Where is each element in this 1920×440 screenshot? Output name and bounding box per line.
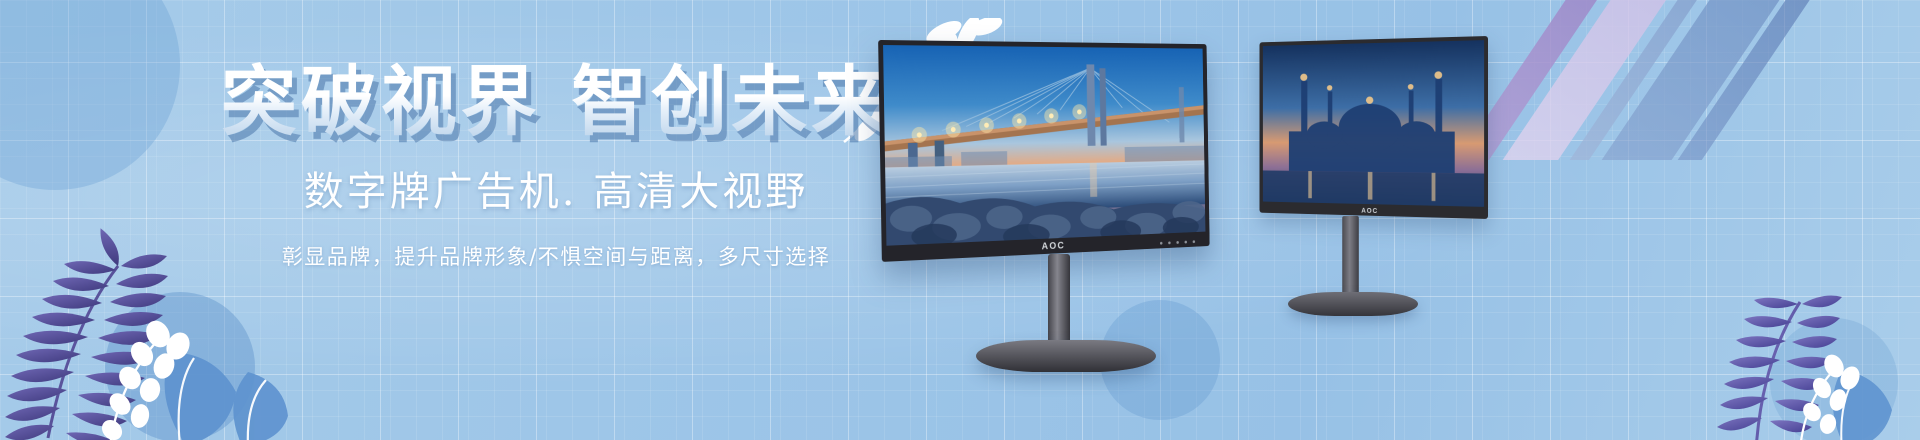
page-title: 突破视界 智创未来 <box>206 62 906 143</box>
osd-button[interactable] <box>1160 242 1163 245</box>
osd-button[interactable] <box>1176 241 1178 244</box>
monitor-front-stand-base <box>976 340 1156 372</box>
monitor-front-panel: AOC <box>878 40 1210 262</box>
osd-button[interactable] <box>1168 241 1171 244</box>
promo-banner: 突破视界 智创未来 数字牌广告机. 高清大视野 彰显品牌，提升品牌形象/不惧空间… <box>0 0 1920 440</box>
brand-logo-back: AOC <box>1260 205 1488 218</box>
monitor-front: AOC <box>880 40 1270 400</box>
product-monitors: AOC <box>880 0 1580 440</box>
osd-button[interactable] <box>1185 241 1187 244</box>
tagline: 彰显品牌，提升品牌形象/不惧空间与距离，多尺寸选择 <box>206 241 906 271</box>
monitor-back-panel: AOC <box>1260 36 1488 219</box>
monitor-front-screen <box>883 45 1205 246</box>
monitor-back-stand-base <box>1288 292 1418 316</box>
monitor-back-stand-neck <box>1342 216 1359 298</box>
osd-button[interactable] <box>1193 240 1195 243</box>
copy-block: 突破视界 智创未来 数字牌广告机. 高清大视野 彰显品牌，提升品牌形象/不惧空间… <box>206 62 906 271</box>
monitor-back: AOC <box>1236 36 1488 336</box>
subtitle: 数字牌广告机. 高清大视野 <box>206 159 906 217</box>
leaf-icon <box>1696 200 1916 440</box>
monitor-front-stand-neck <box>1048 254 1070 350</box>
monitor-back-screen <box>1263 40 1484 207</box>
